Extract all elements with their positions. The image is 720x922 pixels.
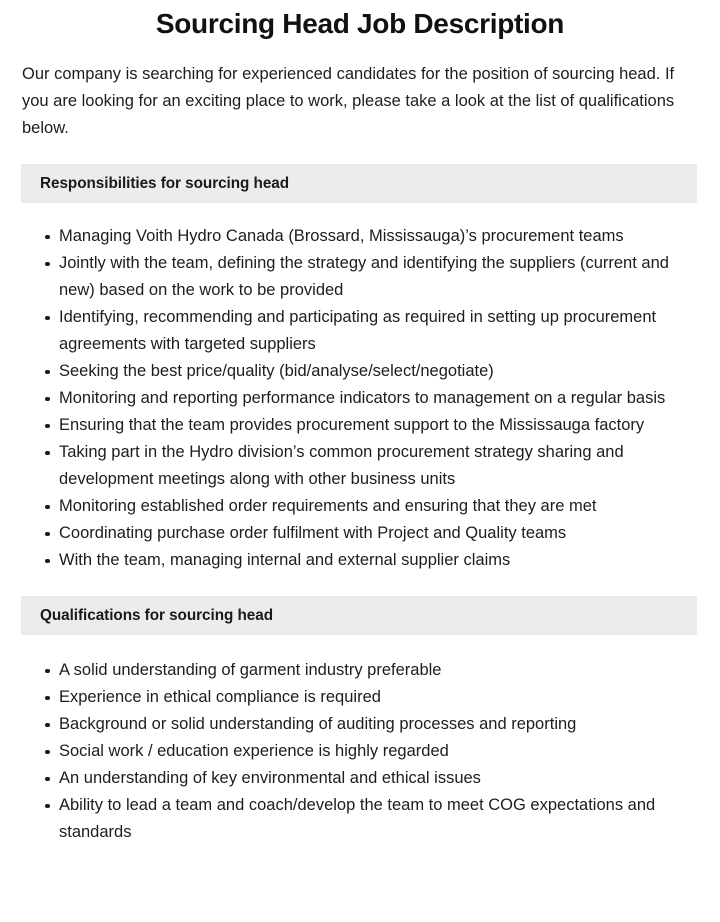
section-heading-label: Qualifications for sourcing head [40,607,273,625]
section-responsibilities: Responsibilities for sourcing head Manag… [0,164,720,574]
section-header-responsibilities: Responsibilities for sourcing head [21,164,697,203]
list-item: Ensuring that the team provides procurem… [59,412,695,439]
list-item: Coordinating purchase order fulfilment w… [59,520,695,547]
section-qualifications: Qualifications for sourcing head A solid… [0,596,720,846]
job-description-page: Sourcing Head Job Description Our compan… [0,0,720,922]
responsibilities-list: Managing Voith Hydro Canada (Brossard, M… [0,203,720,574]
list-item: Managing Voith Hydro Canada (Brossard, M… [59,223,695,250]
section-heading-label: Responsibilities for sourcing head [40,175,289,193]
list-item: With the team, managing internal and ext… [59,547,695,574]
list-item: Background or solid understanding of aud… [59,711,695,738]
list-item: A solid understanding of garment industr… [59,657,695,684]
list-item: Monitoring and reporting performance ind… [59,385,695,412]
list-item: Ability to lead a team and coach/develop… [59,792,695,846]
qualifications-list: A solid understanding of garment industr… [0,635,720,846]
intro-paragraph: Our company is searching for experienced… [0,61,720,142]
list-item: Monitoring established order requirement… [59,493,695,520]
list-item: Identifying, recommending and participat… [59,304,695,358]
list-item: An understanding of key environmental an… [59,765,695,792]
list-item: Jointly with the team, defining the stra… [59,250,695,304]
page-title: Sourcing Head Job Description [0,0,720,42]
list-item: Taking part in the Hydro division’s comm… [59,439,695,493]
list-item: Seeking the best price/quality (bid/anal… [59,358,695,385]
list-item: Experience in ethical compliance is requ… [59,684,695,711]
list-item: Social work / education experience is hi… [59,738,695,765]
section-header-qualifications: Qualifications for sourcing head [21,596,697,635]
